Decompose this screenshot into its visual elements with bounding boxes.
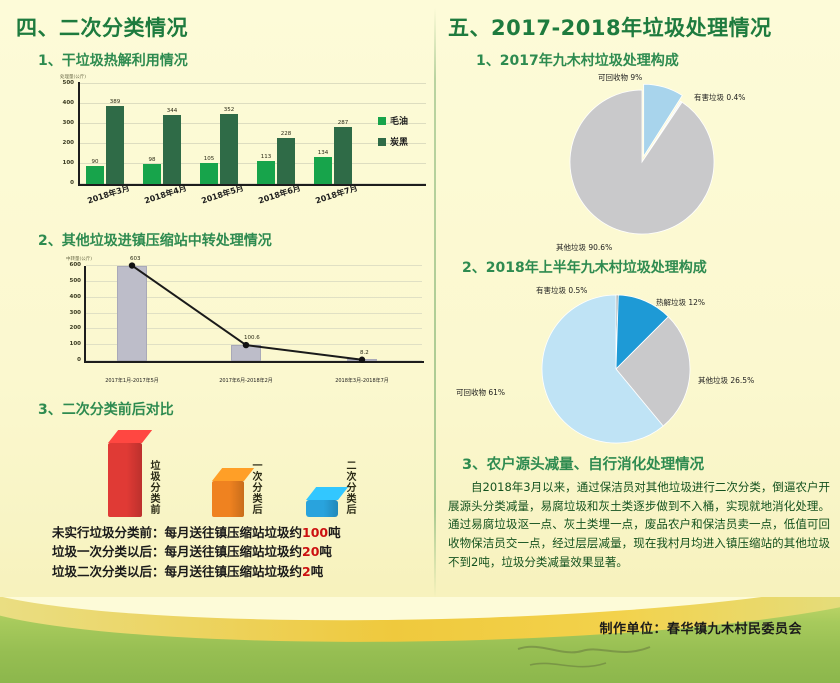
comparison-line: 垃圾一次分类以后：每月送往镇压缩站垃圾约20吨 — [52, 542, 434, 561]
poster-canvas: 四、二次分类情况 1、干垃圾热解利用情况 处理量(公斤) 01002003004… — [0, 0, 840, 683]
bar-chart-group: 105352 — [200, 114, 246, 184]
bar-chart-bar: 134 — [314, 157, 332, 184]
comparison-3d-bar — [212, 481, 244, 517]
section-waste-2018: 2、2018年上半年九木村垃圾处理构成 有害垃圾 0.5%热解垃圾 12%其他垃… — [448, 257, 834, 457]
bar-chart-group: 113228 — [257, 138, 303, 184]
bar-chart-value-label: 228 — [281, 131, 292, 137]
pie-slice-label: 其他垃圾 26.5% — [698, 375, 754, 386]
comparison-line-label: 垃圾二次分类以后：每月送往镇压缩站垃圾约 — [52, 564, 302, 579]
comparison-3d-bar-label: 垃圾分类前 — [146, 460, 161, 515]
bar-chart-x-axis — [78, 184, 426, 186]
line-chart-y-tick-label: 100 — [70, 341, 81, 347]
comparison-3d-bar — [108, 443, 142, 517]
right-column: 五、2017-2018年垃圾处理情况 1、2017年九木村垃圾处理构成 可回收物… — [448, 12, 834, 571]
pie-slice-label: 有害垃圾 0.5% — [536, 285, 587, 296]
bar-chart-bar: 389 — [106, 106, 124, 184]
subheading-transfer-station: 2、其他垃圾进镇压缩站中转处理情况 — [16, 230, 434, 250]
line-chart-x-tick-label: 2017年6月-2018年2月 — [219, 377, 273, 384]
bar-chart-plot-area: 0100200300400500903892018年3月983442018年4月… — [80, 84, 368, 184]
bar-chart-bar: 287 — [334, 127, 352, 184]
line-chart-y-tick-label: 600 — [70, 262, 81, 268]
comparison-3d-bar-face — [306, 500, 338, 517]
comparison-3d-bar-top — [108, 430, 152, 443]
bar-chart-value-label: 113 — [261, 154, 272, 160]
comparison-line: 未实行垃圾分类前：每月送往镇压缩站垃圾约100吨 — [52, 523, 434, 542]
bar-chart-bar: 344 — [163, 115, 181, 184]
comparison-text-lines: 未实行垃圾分类前：每月送往镇压缩站垃圾约100吨垃圾一次分类以后：每月送往镇压缩… — [16, 523, 434, 581]
comparison-line-unit: 吨 — [319, 544, 332, 559]
comparison-3d-bar-label: 二次分类后 — [342, 460, 357, 515]
comparison-3d-bar-face — [212, 481, 244, 517]
bar-chart-value-label: 105 — [204, 156, 215, 162]
chart-pie-waste-2018: 有害垃圾 0.5%热解垃圾 12%其他垃圾 26.5%可回收物 61% — [448, 277, 834, 457]
legend-swatch-icon — [378, 138, 386, 146]
subheading-household-reduction: 3、农户源头减量、自行消化处理情况 — [448, 453, 834, 474]
comparison-3d-bar — [306, 500, 338, 517]
subheading-waste-2017: 1、2017年九木村垃圾处理构成 — [448, 50, 834, 70]
comparison-line-label: 未实行垃圾分类前：每月送往镇压缩站垃圾约 — [52, 525, 302, 540]
chart-transfer-station: 中转量(公斤) 0100200300400500600603100.68.220… — [18, 254, 418, 389]
bar-chart-gridline: 500 — [80, 83, 426, 84]
bar-chart-y-tick-label: 100 — [63, 160, 74, 166]
bar-chart-y-tick-label: 300 — [63, 120, 74, 126]
chart-dry-waste-pyrolysis: 处理量(公斤) 0100200300400500903892018年3月9834… — [18, 76, 418, 216]
bar-chart-group: 134287 — [314, 127, 360, 184]
bar-chart-bar: 228 — [277, 138, 295, 184]
section-household-reduction: 3、农户源头减量、自行消化处理情况 自2018年3月以来，通过保洁员对其他垃圾进… — [448, 453, 834, 571]
pie-chart-svg — [448, 70, 834, 255]
section-dry-waste-pyrolysis: 1、干垃圾热解利用情况 处理量(公斤) 01002003004005009038… — [16, 50, 434, 216]
bar-chart-bar: 98 — [143, 164, 161, 184]
comparison-3d-bar-face — [108, 443, 142, 517]
line-chart-y-tick-label: 0 — [77, 357, 81, 363]
household-reduction-paragraph: 自2018年3月以来，通过保洁员对其他垃圾进行二次分类，倒逼农户开展源头分类减量… — [448, 478, 834, 571]
left-column: 四、二次分类情况 1、干垃圾热解利用情况 处理量(公斤) 01002003004… — [16, 12, 434, 581]
bar-chart-x-tick-label: 2018年5月 — [200, 182, 245, 206]
line-chart-value-label: 8.2 — [360, 350, 369, 356]
legend-label: 毛油 — [390, 114, 408, 127]
bar-chart-value-label: 134 — [318, 150, 329, 156]
comparison-3d-bar-label: 一次分类后 — [248, 460, 263, 515]
bar-chart-y-tick-label: 200 — [63, 140, 74, 146]
bar-chart-gridline: 400 — [80, 103, 426, 104]
section-transfer-station: 2、其他垃圾进镇压缩站中转处理情况 中转量(公斤) 01002003004005… — [16, 230, 434, 389]
pie-slice-label: 热解垃圾 12% — [656, 297, 705, 308]
bar-chart-y-tick-label: 400 — [63, 100, 74, 106]
footer-band — [0, 597, 840, 683]
pie-slice-label: 有害垃圾 0.4% — [694, 92, 745, 103]
bar-chart-legend-item: 炭黑 — [378, 135, 408, 148]
right-section-heading: 五、2017-2018年垃圾处理情况 — [448, 12, 834, 42]
comparison-line-value: 2 — [302, 564, 311, 579]
legend-label: 炭黑 — [390, 135, 408, 148]
line-chart-y-tick-label: 400 — [70, 294, 81, 300]
bar-chart-value-label: 287 — [338, 120, 349, 126]
bar-chart-bar: 105 — [200, 163, 218, 184]
bar-chart-y-tick-label: 0 — [70, 180, 74, 186]
comparison-line-value: 100 — [302, 525, 328, 540]
pie-slice-label: 其他垃圾 90.6% — [556, 242, 612, 253]
line-chart-value-label: 100.6 — [244, 335, 260, 341]
bar-chart-y-tick-label: 500 — [63, 80, 74, 86]
bar-chart-bar: 352 — [220, 114, 238, 184]
bar-chart-x-tick-label: 2018年4月 — [143, 182, 188, 206]
left-section-heading: 四、二次分类情况 — [16, 12, 434, 42]
line-chart-series — [86, 266, 422, 361]
line-chart-y-tick-label: 200 — [70, 325, 81, 331]
bar-chart-value-label: 90 — [92, 159, 99, 165]
comparison-line-unit: 吨 — [328, 525, 341, 540]
line-chart-y-tick-label: 300 — [70, 310, 81, 316]
comparison-line: 垃圾二次分类以后：每月送往镇压缩站垃圾约2吨 — [52, 562, 434, 581]
line-chart-value-label: 603 — [130, 256, 141, 262]
line-chart-x-axis — [84, 361, 424, 363]
subheading-dry-waste: 1、干垃圾热解利用情况 — [16, 50, 434, 70]
section-before-after: 3、二次分类前后对比 垃圾分类前一次分类后二次分类后 未实行垃圾分类前：每月送往… — [16, 399, 434, 581]
signature-mark — [510, 639, 660, 681]
footer-credit: 制作单位：春华镇九木村民委员会 — [599, 618, 802, 637]
bar-chart-bar: 113 — [257, 161, 275, 184]
subheading-waste-2018: 2、2018年上半年九木村垃圾处理构成 — [448, 257, 834, 277]
pie-slice — [570, 90, 714, 234]
subheading-before-after: 3、二次分类前后对比 — [16, 399, 434, 419]
comparison-line-value: 20 — [302, 544, 319, 559]
bar-chart-value-label: 344 — [167, 108, 178, 114]
bar-chart-group: 98344 — [143, 115, 189, 184]
line-chart-plot-area: 0100200300400500600603100.68.22017年1月-20… — [86, 266, 422, 361]
bar-chart-legend: 毛油炭黑 — [378, 114, 408, 156]
column-divider — [434, 8, 436, 598]
bar-chart-group: 90389 — [86, 106, 132, 184]
bar-chart-value-label: 389 — [110, 99, 121, 105]
comparison-line-label: 垃圾一次分类以后：每月送往镇压缩站垃圾约 — [52, 544, 302, 559]
bar-chart-legend-item: 毛油 — [378, 114, 408, 127]
bar-chart-bar: 90 — [86, 166, 104, 184]
legend-swatch-icon — [378, 117, 386, 125]
line-chart-x-tick-label: 2018年3月-2018年7月 — [335, 377, 389, 384]
line-chart-y-tick-label: 500 — [70, 278, 81, 284]
bar-chart-value-label: 352 — [224, 107, 235, 113]
bar-chart-x-tick-label: 2018年3月 — [86, 182, 131, 206]
pie-slice-label: 可回收物 61% — [456, 387, 505, 398]
pie-chart-svg — [448, 277, 834, 457]
chart-pie-waste-2017: 可回收物 9%有害垃圾 0.4%其他垃圾 90.6% — [448, 70, 834, 255]
bar-chart-x-tick-label: 2018年6月 — [257, 182, 302, 206]
bar-chart-x-tick-label: 2018年7月 — [314, 182, 359, 206]
bar-chart-value-label: 98 — [149, 157, 156, 163]
pie-slice-label: 可回收物 9% — [598, 72, 642, 83]
comparison-line-unit: 吨 — [311, 564, 324, 579]
chart-before-after-3d: 垃圾分类前一次分类后二次分类后 — [16, 425, 416, 521]
line-chart-x-tick-label: 2017年1月-2017年5月 — [105, 377, 159, 384]
section-waste-2017: 1、2017年九木村垃圾处理构成 可回收物 9%有害垃圾 0.4%其他垃圾 90… — [448, 50, 834, 255]
